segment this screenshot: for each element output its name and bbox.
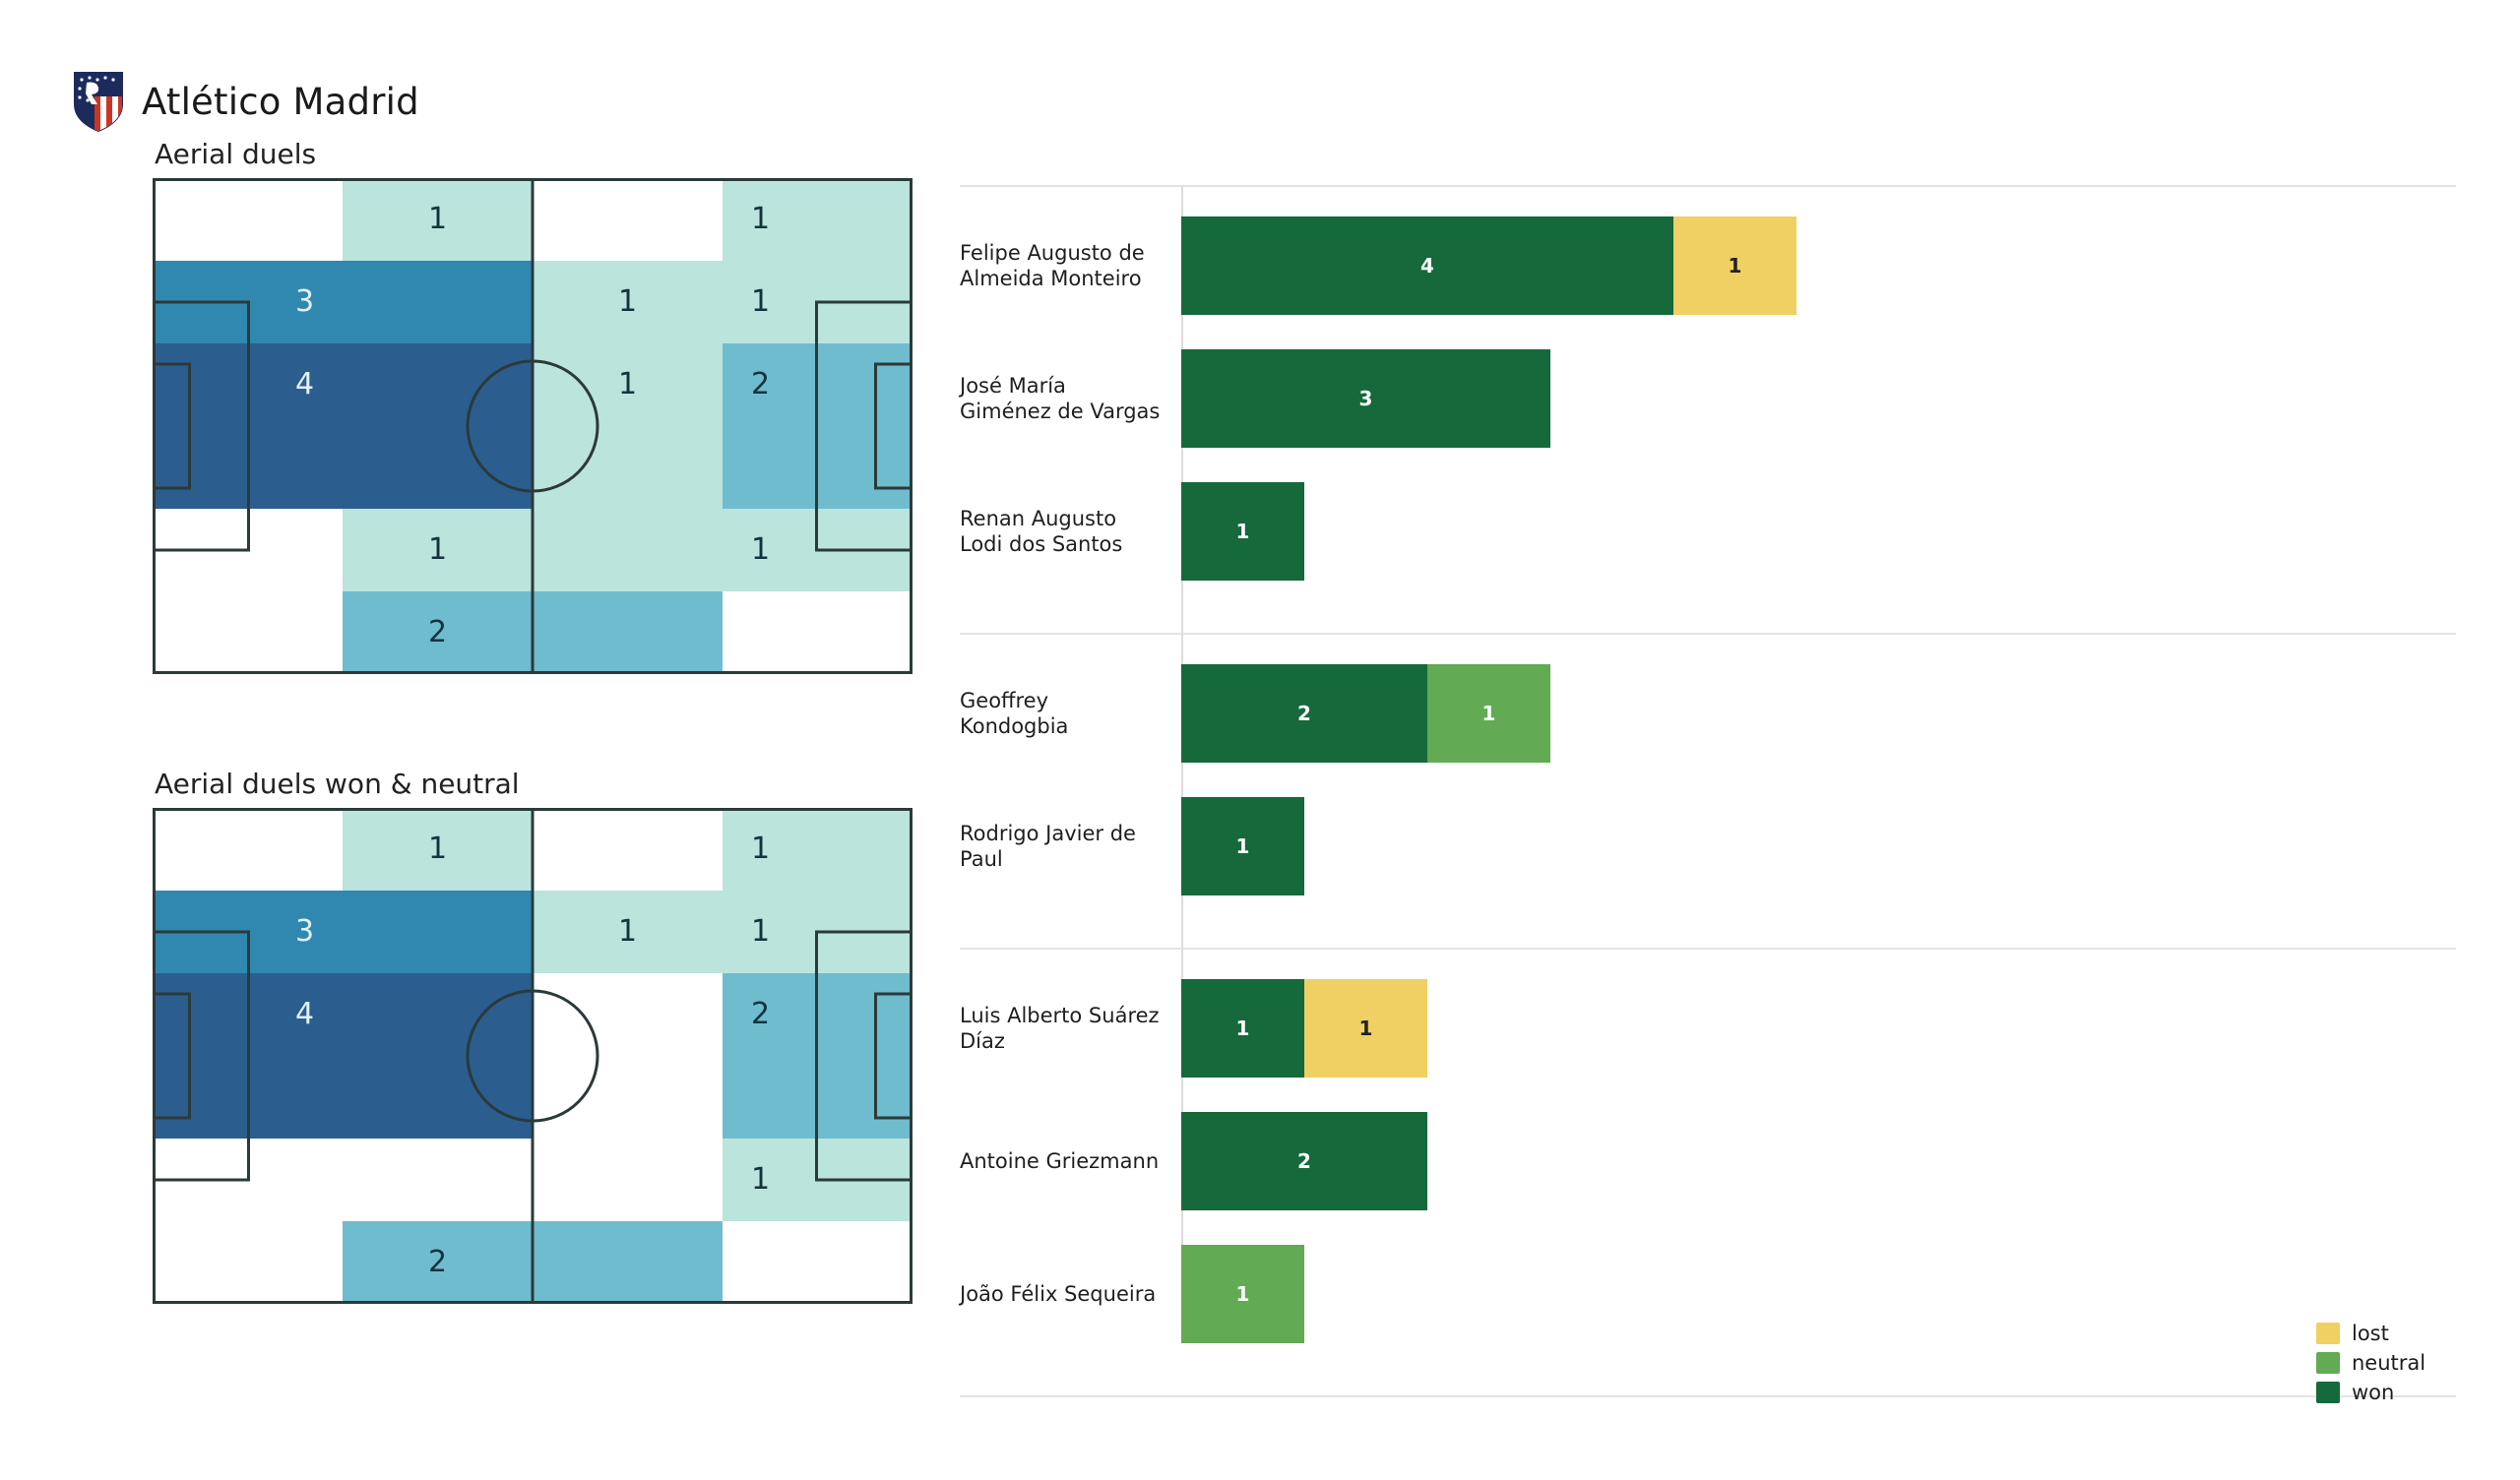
bar-segment-won[interactable]: 2 <box>1181 1112 1427 1210</box>
legend-item-neutral: neutral <box>2316 1348 2425 1378</box>
pitch-title-2: Aerial duels won & neutral <box>155 768 913 800</box>
pitch-panel-aerial-duels-won-neutral: Aerial duels won & neutral 113114212 <box>153 768 913 1304</box>
bar-segment-won[interactable]: 4 <box>1181 216 1673 315</box>
bar-row[interactable]: Luis Alberto Suárez Díaz11 <box>960 979 1427 1078</box>
stacked-bar: 1 <box>1181 797 1304 895</box>
bar-row[interactable]: Geoffrey Kondogbia21 <box>960 664 1550 763</box>
stacked-bar: 1 <box>1181 482 1304 581</box>
group-separator <box>960 948 2456 950</box>
player-name-label: Renan Augusto Lodi dos Santos <box>960 506 1174 558</box>
legend-swatch-neutral <box>2316 1352 2340 1374</box>
player-name-label: Felipe Augusto de Almeida Monteiro <box>960 240 1174 292</box>
stacked-bar: 21 <box>1181 664 1550 763</box>
bar-segment-won[interactable]: 1 <box>1181 797 1304 895</box>
bar-row[interactable]: Felipe Augusto de Almeida Monteiro41 <box>960 216 1796 315</box>
atletico-madrid-crest-icon <box>73 71 124 132</box>
stacked-bar: 1 <box>1181 1245 1304 1343</box>
chart-legend: lost neutral won <box>2316 1319 2425 1407</box>
player-name-label: Antoine Griezmann <box>960 1148 1174 1174</box>
legend-swatch-lost <box>2316 1323 2340 1344</box>
bar-row[interactable]: João Félix Sequeira1 <box>960 1245 1304 1343</box>
bar-row[interactable]: Antoine Griezmann2 <box>960 1112 1427 1210</box>
player-name-label: José María Giménez de Vargas <box>960 373 1174 425</box>
team-name: Atlético Madrid <box>142 81 419 123</box>
stacked-bar: 41 <box>1181 216 1796 315</box>
bar-row[interactable]: Renan Augusto Lodi dos Santos1 <box>960 482 1304 581</box>
stacked-bar: 11 <box>1181 979 1427 1078</box>
bar-segment-neutral[interactable]: 1 <box>1181 1245 1304 1343</box>
player-name-label: João Félix Sequeira <box>960 1281 1174 1307</box>
pitch-title-1: Aerial duels <box>155 138 913 170</box>
pitch-lines-1 <box>153 178 913 674</box>
stacked-bar: 2 <box>1181 1112 1427 1210</box>
bar-row[interactable]: José María Giménez de Vargas3 <box>960 349 1550 448</box>
player-name-label: Luis Alberto Suárez Díaz <box>960 1003 1174 1055</box>
bar-row[interactable]: Rodrigo Javier de Paul1 <box>960 797 1304 895</box>
player-name-label: Rodrigo Javier de Paul <box>960 821 1174 873</box>
pitch-heatmap-2: 113114212 <box>153 808 913 1304</box>
team-header: Atlético Madrid <box>73 71 419 132</box>
stacked-bar: 3 <box>1181 349 1550 448</box>
player-aerial-duels-chart: Felipe Augusto de Almeida Monteiro41José… <box>960 175 2456 1346</box>
legend-swatch-won <box>2316 1382 2340 1403</box>
player-name-label: Geoffrey Kondogbia <box>960 688 1174 740</box>
bar-segment-won[interactable]: 1 <box>1181 979 1304 1078</box>
bar-segment-lost[interactable]: 1 <box>1304 979 1427 1078</box>
group-separator <box>960 633 2456 635</box>
bar-segment-won[interactable]: 2 <box>1181 664 1427 763</box>
legend-label-neutral: neutral <box>2352 1351 2425 1375</box>
group-separator <box>960 1395 2456 1397</box>
legend-item-lost: lost <box>2316 1319 2425 1348</box>
legend-label-won: won <box>2352 1381 2394 1404</box>
legend-label-lost: lost <box>2352 1322 2389 1345</box>
bar-segment-lost[interactable]: 1 <box>1673 216 1796 315</box>
pitch-panel-aerial-duels: Aerial duels 11311412112 <box>153 138 913 674</box>
bar-segment-won[interactable]: 3 <box>1181 349 1550 448</box>
pitch-lines-2 <box>153 808 913 1304</box>
bar-segment-neutral[interactable]: 1 <box>1427 664 1550 763</box>
chart-top-rule <box>960 185 2456 187</box>
legend-item-won: won <box>2316 1378 2425 1407</box>
pitch-heatmap-1: 11311412112 <box>153 178 913 674</box>
bar-segment-won[interactable]: 1 <box>1181 482 1304 581</box>
